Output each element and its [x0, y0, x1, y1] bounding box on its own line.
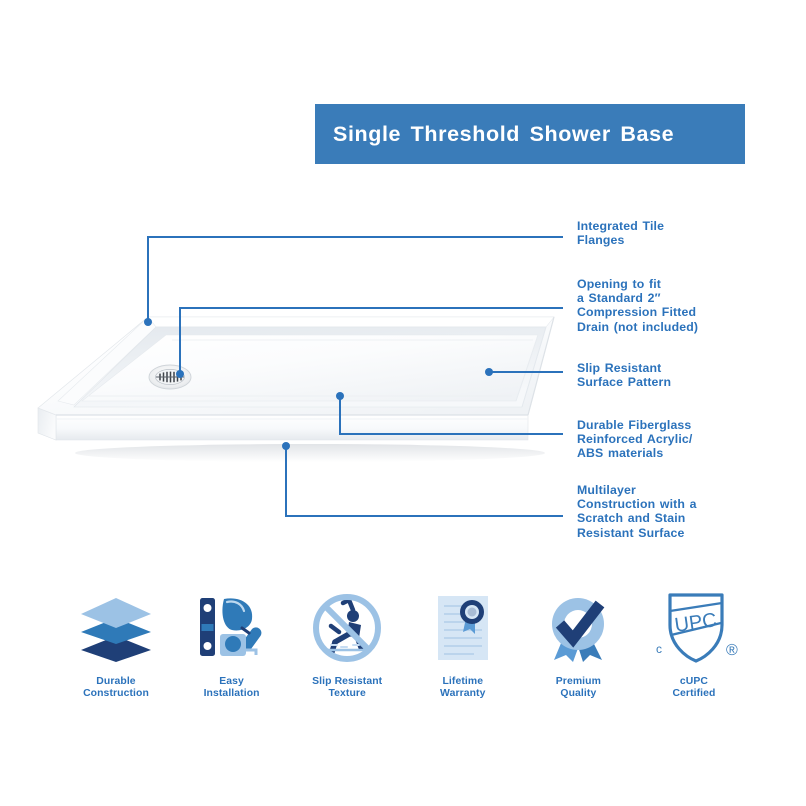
- tools-icon: [194, 592, 270, 664]
- feature-label-easy-installation: Easy Installation: [204, 676, 260, 701]
- upc-shield-icon-wrap: UPC c ®: [650, 588, 738, 668]
- feature-label-premium-quality: Premium Quality: [556, 676, 601, 701]
- feature-label-lifetime-warranty: Lifetime Warranty: [440, 676, 485, 701]
- infographic-canvas: Single Threshold Shower Base: [0, 0, 806, 806]
- leader-dot-drain-opening: [176, 370, 184, 378]
- no-slip-icon: [309, 592, 385, 664]
- certificate-icon-wrap: [425, 588, 501, 668]
- feature-premium-quality: Premium Quality: [522, 588, 634, 701]
- layers-icon-wrap: [78, 588, 154, 668]
- leader-dot-multilayer: [282, 442, 290, 450]
- leader-dot-integrated-tile-flanges: [144, 318, 152, 326]
- callout-durable-materials: Durable Fiberglass Reinforced Acrylic/ A…: [577, 418, 692, 461]
- feature-label-slip-resistant-texture: Slip Resistant Texture: [312, 676, 382, 701]
- certificate-icon: [425, 592, 501, 664]
- leader-dot-durable-materials: [336, 392, 344, 400]
- check-rosette-icon: [540, 592, 616, 664]
- leader-line-multilayer: [286, 446, 563, 516]
- feature-lifetime-warranty: Lifetime Warranty: [407, 588, 519, 701]
- feature-slip-resistant-texture: Slip Resistant Texture: [291, 588, 403, 701]
- upc-shield-text: UPC: [673, 609, 718, 637]
- feature-badge-row: Durable Construction: [60, 588, 750, 718]
- leader-line-durable-materials: [340, 396, 563, 434]
- feature-label-durable-construction: Durable Construction: [83, 676, 149, 701]
- feature-easy-installation: Easy Installation: [176, 588, 288, 701]
- leader-dot-slip-resistant: [485, 368, 493, 376]
- feature-label-cupc-certified: cUPC Certified: [672, 676, 715, 701]
- callout-integrated-tile-flanges: Integrated Tile Flanges: [577, 219, 664, 247]
- upc-shield-icon: UPC c ®: [650, 591, 738, 665]
- tools-icon-wrap: [194, 588, 270, 668]
- leader-line-integrated-tile-flanges: [148, 237, 563, 322]
- upc-shield-prefix: c: [656, 642, 662, 656]
- callout-slip-resistant-surface: Slip Resistant Surface Pattern: [577, 361, 671, 389]
- check-rosette-icon-wrap: [540, 588, 616, 668]
- callout-drain-opening: Opening to fit a Standard 2″ Compression…: [577, 277, 698, 334]
- feature-cupc-certified: UPC c ® cUPC Certified: [638, 588, 750, 701]
- feature-durable-construction: Durable Construction: [60, 588, 172, 701]
- leader-line-drain-opening: [180, 308, 563, 374]
- layers-icon: [78, 592, 154, 664]
- no-slip-icon-wrap: [309, 588, 385, 668]
- callout-multilayer-construction: Multilayer Construction with a Scratch a…: [577, 483, 697, 540]
- upc-shield-registered: ®: [726, 642, 738, 659]
